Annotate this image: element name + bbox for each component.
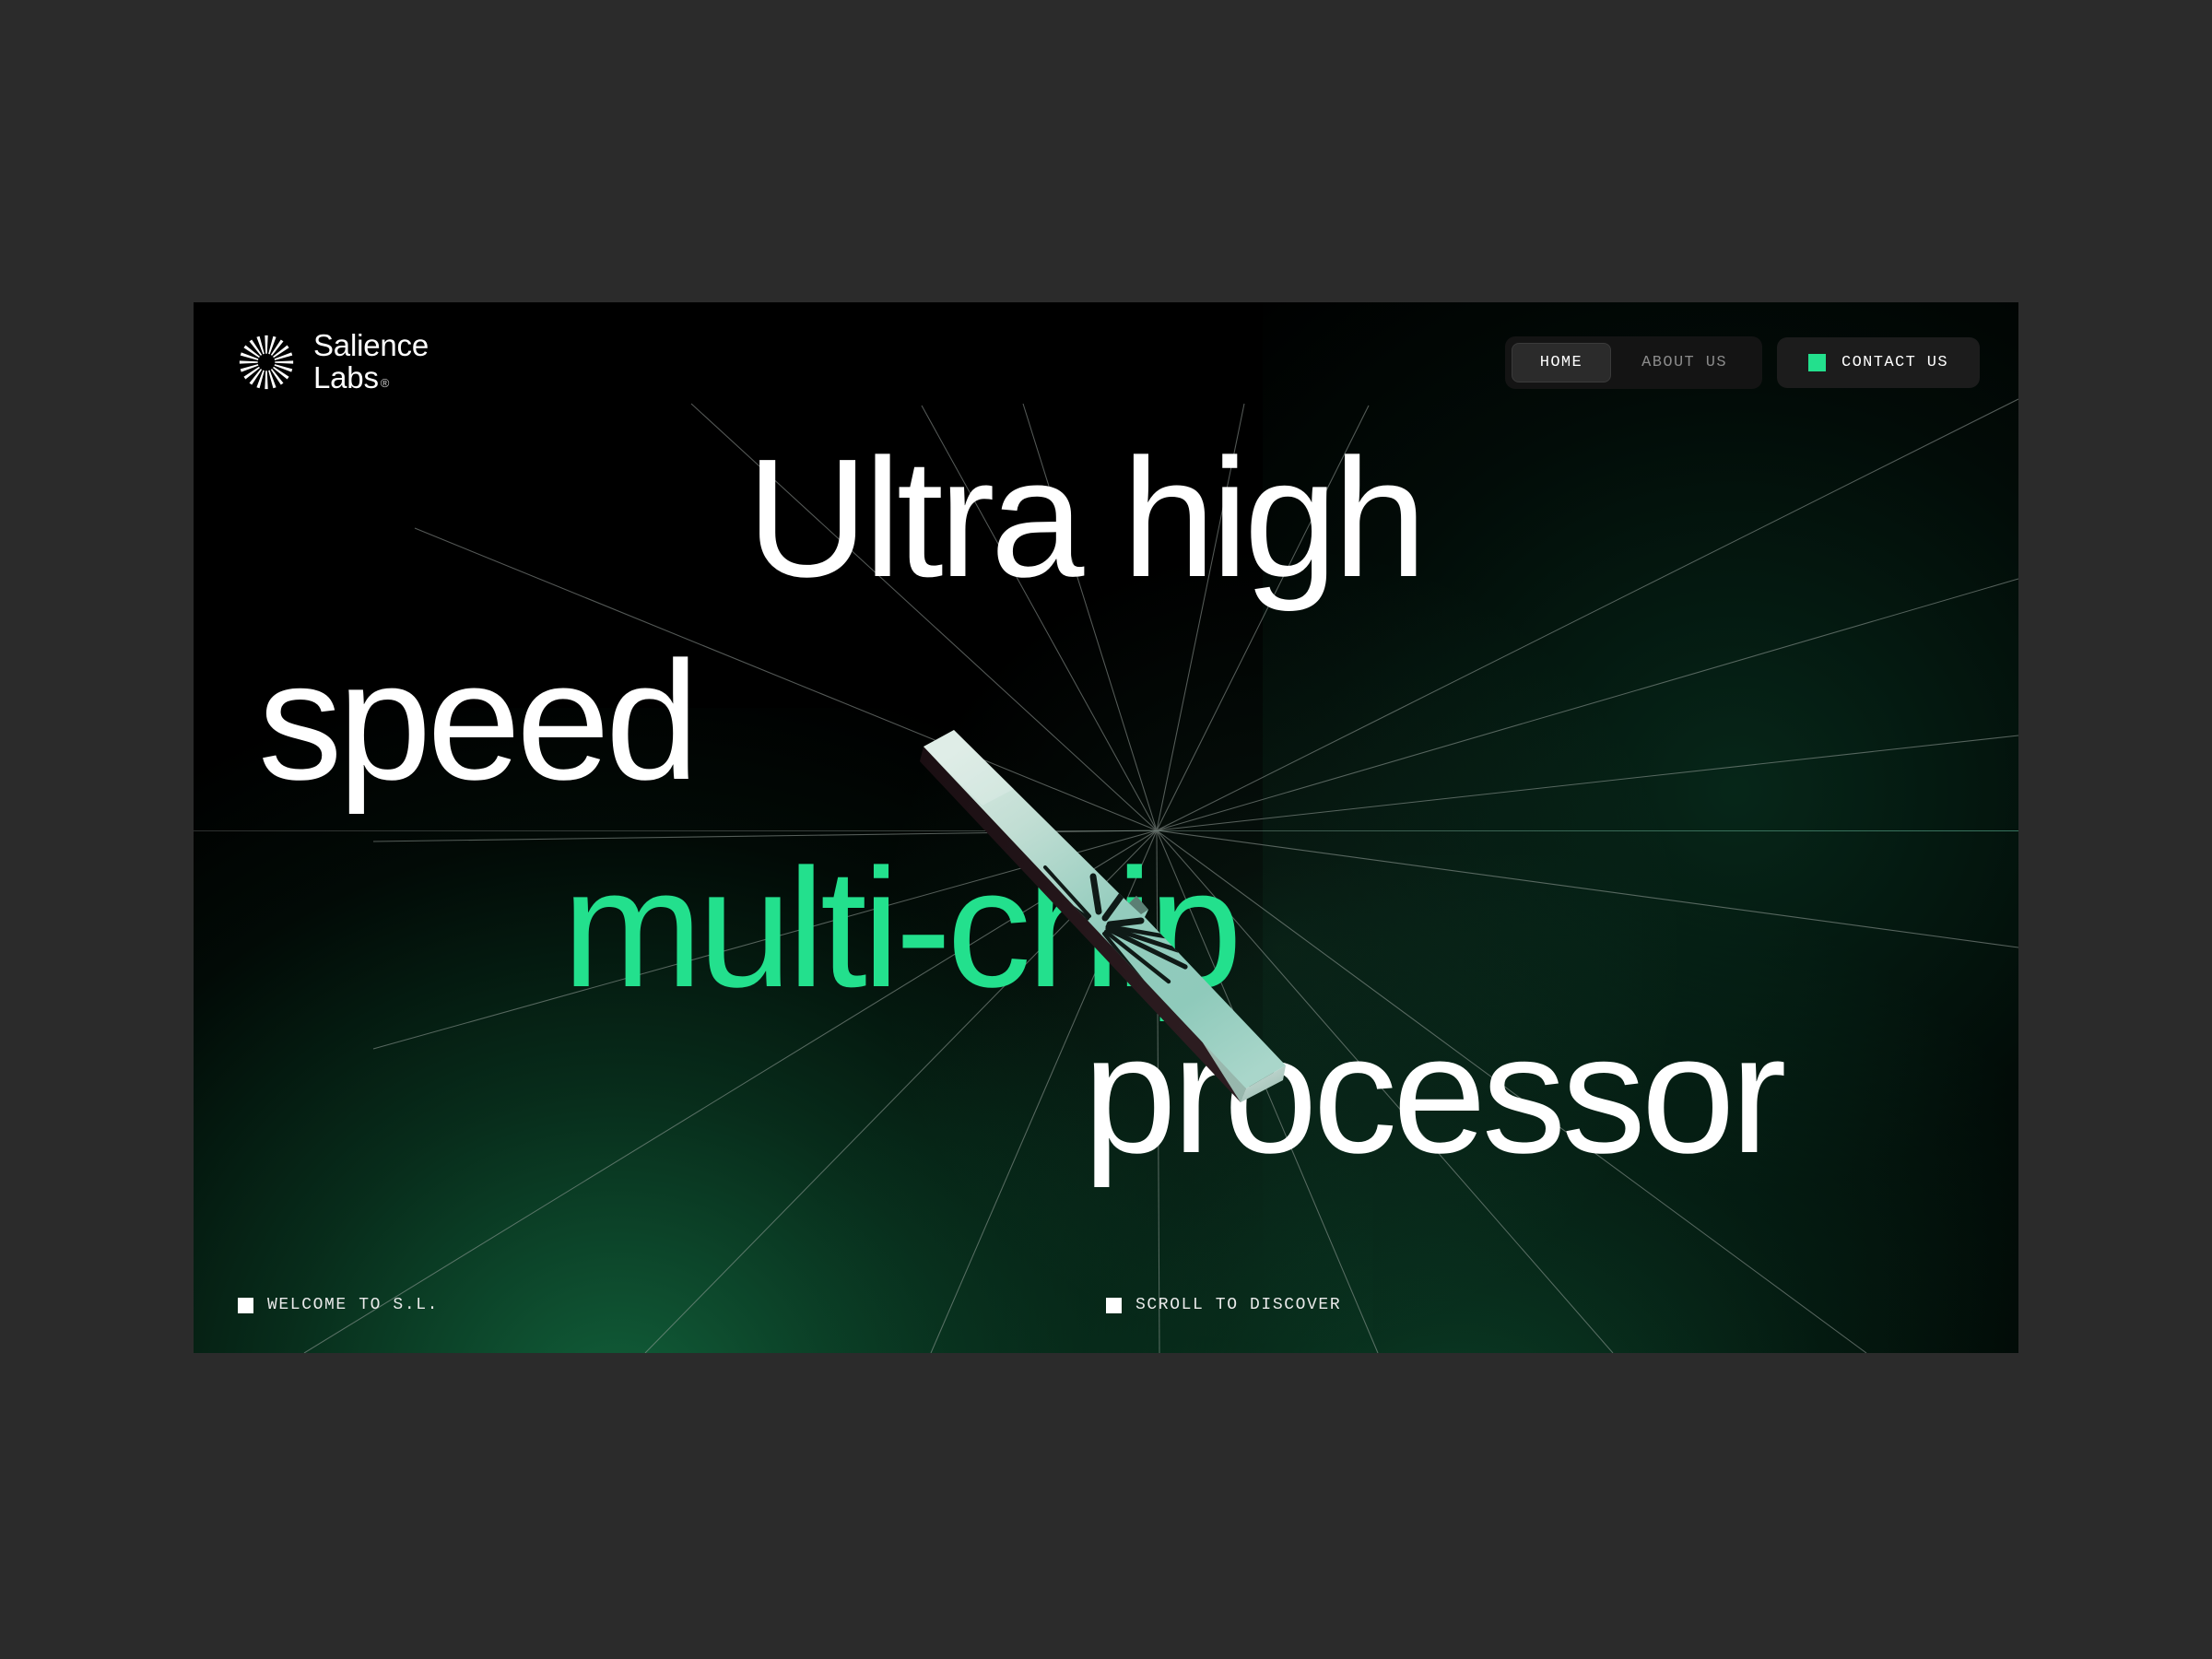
nav-item-about-us[interactable]: ABOUT US bbox=[1613, 343, 1756, 382]
headline-line-4: processor bbox=[1083, 1017, 1782, 1171]
screen-canvas: Salience Labs® HOME ABOUT US CONTACT US … bbox=[0, 0, 2212, 1659]
brand-name: Salience Labs® bbox=[313, 330, 429, 394]
chip-engraved-starburst-icon bbox=[1008, 867, 1185, 991]
chip-illustration bbox=[903, 689, 1419, 1150]
chip-highlight bbox=[924, 730, 1014, 806]
chip-top-face bbox=[924, 730, 1286, 1088]
brand-name-text: Salience Labs bbox=[313, 328, 429, 394]
chip-notch bbox=[1129, 896, 1148, 914]
welcome-tag-label: WELCOME TO S.L. bbox=[267, 1296, 439, 1314]
scroll-to-discover-tag[interactable]: SCROLL TO DISCOVER bbox=[1106, 1296, 1341, 1314]
hero-headline: Ultra high speed multi-chip processor bbox=[194, 302, 2018, 1353]
chip-bottom-edge bbox=[1123, 903, 1246, 1102]
headline-line-2: speed bbox=[258, 643, 695, 798]
chip-left-edge bbox=[920, 747, 1246, 1102]
contact-us-button[interactable]: CONTACT US bbox=[1777, 337, 1980, 388]
white-square-icon bbox=[1106, 1298, 1122, 1313]
main-navigation: HOME ABOUT US CONTACT US bbox=[1505, 336, 1980, 389]
radiating-lines-decoration bbox=[194, 302, 2018, 1353]
registered-mark: ® bbox=[381, 376, 389, 390]
contact-us-label: CONTACT US bbox=[1841, 354, 1948, 371]
horizontal-divider-line bbox=[194, 830, 2018, 831]
green-square-icon bbox=[1808, 354, 1826, 371]
chip-bottom-bevel bbox=[1241, 1065, 1286, 1102]
welcome-tag: WELCOME TO S.L. bbox=[238, 1296, 439, 1314]
nav-item-home[interactable]: HOME bbox=[1512, 343, 1611, 382]
headline-line-1: Ultra high bbox=[747, 441, 1422, 595]
scroll-tag-label: SCROLL TO DISCOVER bbox=[1135, 1296, 1341, 1314]
nav-pill-group: HOME ABOUT US bbox=[1505, 336, 1762, 389]
processor-chip-graphic bbox=[903, 689, 1419, 1150]
brand-logo[interactable]: Salience Labs® bbox=[238, 330, 429, 394]
green-glow-right bbox=[1263, 302, 2018, 1353]
site-header: Salience Labs® HOME ABOUT US CONTACT US bbox=[194, 302, 2018, 422]
starburst-icon bbox=[238, 334, 295, 391]
hero-section: Salience Labs® HOME ABOUT US CONTACT US … bbox=[194, 302, 2018, 1353]
white-square-icon bbox=[238, 1298, 253, 1313]
center-halo-glow bbox=[829, 533, 1733, 1353]
hero-footer: WELCOME TO S.L. SCROLL TO DISCOVER bbox=[194, 1242, 2018, 1353]
headline-line-3-accent: multi-chip bbox=[562, 851, 1238, 1006]
